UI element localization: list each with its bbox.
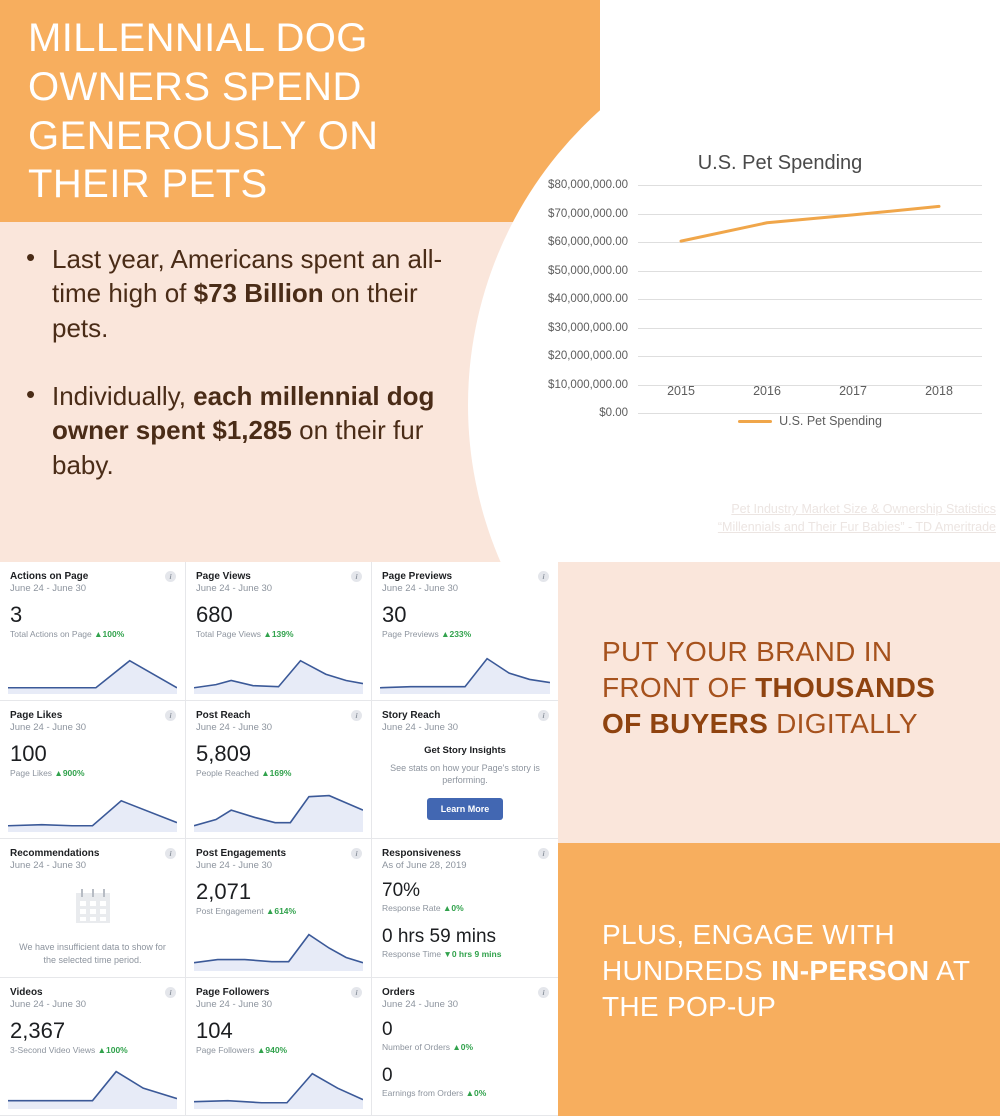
insight-card-range: June 24 - June 30 xyxy=(382,583,548,594)
info-icon[interactable]: i xyxy=(538,571,549,582)
chart-y-tick: $20,000,000.00 xyxy=(548,350,628,362)
insight-sparkline xyxy=(194,642,363,694)
insight-card-title: Videos xyxy=(10,987,175,998)
chart-title: U.S. Pet Spending xyxy=(564,152,996,175)
chart-line-series xyxy=(638,185,982,413)
chart-sources: Pet Industry Market Size & Ownership Sta… xyxy=(516,500,996,536)
insight-metric-value-2: 0 xyxy=(382,1066,548,1085)
insight-card[interactable]: Page FollowersJune 24 - June 30i104Page … xyxy=(186,978,372,1116)
insight-card-title: Page Views xyxy=(196,571,361,582)
legend-label: U.S. Pet Spending xyxy=(779,414,882,428)
insight-delta: ▲100% xyxy=(98,1045,128,1055)
chart-y-axis: $80,000,000.00$70,000,000.00$60,000,000.… xyxy=(516,185,634,413)
insight-card[interactable]: Page LikesJune 24 - June 30i100Page Like… xyxy=(0,701,186,840)
info-icon[interactable]: i xyxy=(538,987,549,998)
chart-y-tick: $70,000,000.00 xyxy=(548,208,628,220)
insight-card[interactable]: Post ReachJune 24 - June 30i5,809People … xyxy=(186,701,372,840)
insight-delta: ▲139% xyxy=(263,629,293,639)
insight-card[interactable]: Page ViewsJune 24 - June 30i680Total Pag… xyxy=(186,562,372,701)
insight-card-title: Story Reach xyxy=(382,710,548,721)
list-item: Last year, Americans spent an all-time h… xyxy=(20,242,470,345)
chart-y-tick: $0.00 xyxy=(599,407,628,419)
chart-y-tick: $30,000,000.00 xyxy=(548,322,628,334)
info-icon[interactable]: i xyxy=(165,848,176,859)
insight-sparkline xyxy=(380,642,550,694)
insight-card-title: Recommendations xyxy=(10,848,175,859)
insight-empty-text: We have insufficient data to show for th… xyxy=(10,941,175,966)
chart-plot-area xyxy=(638,185,982,413)
insight-metric-label: Total Actions on Page ▲100% xyxy=(10,629,175,639)
insight-card-range: June 24 - June 30 xyxy=(382,722,548,733)
info-icon[interactable]: i xyxy=(351,571,362,582)
legend-swatch-icon xyxy=(738,420,772,423)
info-icon[interactable]: i xyxy=(165,710,176,721)
info-icon[interactable]: i xyxy=(351,710,362,721)
insight-card-range: June 24 - June 30 xyxy=(10,583,175,594)
chart-legend: U.S. Pet Spending xyxy=(638,414,982,428)
insight-metric-label: Number of Orders ▲0% xyxy=(382,1042,548,1052)
info-icon[interactable]: i xyxy=(538,710,549,721)
hero-bullet-list: Last year, Americans spent an all-time h… xyxy=(20,242,470,516)
insight-card-range: June 24 - June 30 xyxy=(382,999,548,1010)
insight-delta: ▲940% xyxy=(257,1045,287,1055)
insight-metric-label: Page Previews ▲233% xyxy=(382,629,548,639)
chart-y-tick: $10,000,000.00 xyxy=(548,379,628,391)
popup-text-bold: IN-PERSON xyxy=(771,955,929,986)
insight-metric-label: Response Rate ▲0% xyxy=(382,903,548,913)
insight-metric-label: 3-Second Video Views ▲100% xyxy=(10,1045,175,1055)
insight-card-range: June 24 - June 30 xyxy=(196,583,361,594)
insight-card[interactable]: Post EngagementsJune 24 - June 30i2,071P… xyxy=(186,839,372,978)
insight-card[interactable]: RecommendationsJune 24 - June 30iWe have… xyxy=(0,839,186,978)
chart-x-tick: 2016 xyxy=(753,384,781,398)
insight-card[interactable]: Story ReachJune 24 - June 30iGet Story I… xyxy=(372,701,558,840)
insight-card-title: Actions on Page xyxy=(10,571,175,582)
insight-metric-label: Total Page Views ▲139% xyxy=(196,629,361,639)
insight-card[interactable]: Actions on PageJune 24 - June 30i3Total … xyxy=(0,562,186,701)
insight-metric-value: 2,367 xyxy=(10,1020,175,1042)
insight-sparkline xyxy=(194,780,363,832)
page-title: MILLENNIAL DOG OWNERS SPEND GENEROUSLY O… xyxy=(28,14,468,209)
chart-y-tick: $80,000,000.00 xyxy=(548,179,628,191)
facebook-insights-grid: Actions on PageJune 24 - June 30i3Total … xyxy=(0,562,558,1116)
insight-sparkline xyxy=(194,1057,363,1109)
insight-delta-2: ▲0% xyxy=(466,1088,487,1098)
insight-metric-value: 104 xyxy=(196,1020,361,1042)
chart-x-axis: 2015201620172018 xyxy=(638,384,982,406)
insight-sparkline xyxy=(8,1057,177,1109)
insight-metric-value: 2,071 xyxy=(196,881,361,903)
story-promo-text: See stats on how your Page's story is pe… xyxy=(382,762,548,786)
bullet-text-pre: Individually, xyxy=(52,381,193,411)
insight-sparkline xyxy=(8,642,177,694)
insight-card-title: Page Likes xyxy=(10,710,175,721)
list-item: Individually, each millennial dog owner … xyxy=(20,379,470,482)
popup-panel-heading: PLUS, ENGAGE WITH HUNDREDS IN-PERSON AT … xyxy=(602,917,982,1024)
chart-y-tick: $50,000,000.00 xyxy=(548,265,628,277)
insight-sparkline xyxy=(194,919,363,971)
insight-card-range: As of June 28, 2019 xyxy=(382,860,548,871)
insight-card-title: Responsiveness xyxy=(382,848,548,859)
insight-card[interactable]: Page PreviewsJune 24 - June 30i30Page Pr… xyxy=(372,562,558,701)
insight-card[interactable]: ResponsivenessAs of June 28, 2019i70%Res… xyxy=(372,839,558,978)
insight-card-range: June 24 - June 30 xyxy=(196,860,361,871)
insight-card-title: Orders xyxy=(382,987,548,998)
insight-delta: ▲100% xyxy=(94,629,124,639)
calendar-icon xyxy=(72,887,114,927)
insight-card-title: Post Reach xyxy=(196,710,361,721)
insight-sparkline xyxy=(8,780,177,832)
insight-card-range: June 24 - June 30 xyxy=(196,999,361,1010)
brand-panel: PUT YOUR BRAND IN FRONT OF THOUSANDS OF … xyxy=(558,562,1000,843)
insight-card-title: Page Followers xyxy=(196,987,361,998)
insight-metric-value: 0 xyxy=(382,1020,548,1039)
insight-delta: ▲0% xyxy=(452,1042,473,1052)
insight-card[interactable]: VideosJune 24 - June 30i2,3673-Second Vi… xyxy=(0,978,186,1116)
insight-card-range: June 24 - June 30 xyxy=(10,999,175,1010)
chart-x-tick: 2018 xyxy=(925,384,953,398)
info-icon[interactable]: i xyxy=(538,848,549,859)
info-icon[interactable]: i xyxy=(351,848,362,859)
insight-metric-value: 100 xyxy=(10,743,175,765)
source-link-2[interactable]: “Millennials and Their Fur Babies” - TD … xyxy=(516,518,996,536)
info-icon[interactable]: i xyxy=(351,987,362,998)
insight-metric-value: 30 xyxy=(382,604,548,626)
hero-section: MILLENNIAL DOG OWNERS SPEND GENEROUSLY O… xyxy=(0,0,1000,562)
insight-card-range: June 24 - June 30 xyxy=(10,860,175,871)
story-promo-title: Get Story Insights xyxy=(382,745,548,756)
insight-metric-label-2: Earnings from Orders ▲0% xyxy=(382,1088,548,1098)
insight-card-range: June 24 - June 30 xyxy=(10,722,175,733)
pet-spending-chart: U.S. Pet Spending $80,000,000.00$70,000,… xyxy=(516,152,996,482)
insight-metric-label: People Reached ▲169% xyxy=(196,768,361,778)
insight-metric-label: Page Likes ▲900% xyxy=(10,768,175,778)
insight-card-title: Post Engagements xyxy=(196,848,361,859)
info-icon[interactable]: i xyxy=(165,987,176,998)
insight-delta: ▲614% xyxy=(266,906,296,916)
insight-metric-value: 70% xyxy=(382,881,548,900)
insight-metric-label: Page Followers ▲940% xyxy=(196,1045,361,1055)
popup-panel: PLUS, ENGAGE WITH HUNDREDS IN-PERSON AT … xyxy=(558,843,1000,1116)
info-icon[interactable]: i xyxy=(165,571,176,582)
insight-card[interactable]: OrdersJune 24 - June 30i0Number of Order… xyxy=(372,978,558,1116)
insight-delta: ▲233% xyxy=(441,629,471,639)
insight-metric-value: 680 xyxy=(196,604,361,626)
insight-card-title: Page Previews xyxy=(382,571,548,582)
insight-metric-value: 5,809 xyxy=(196,743,361,765)
insight-metric-label-2: Response Time ▼0 hrs 9 mins xyxy=(382,949,548,959)
insight-card-range: June 24 - June 30 xyxy=(196,722,361,733)
chart-x-tick: 2017 xyxy=(839,384,867,398)
insight-delta: ▲0% xyxy=(443,903,464,913)
insight-delta: ▲900% xyxy=(54,768,84,778)
bullet-text-bold: $73 Billion xyxy=(194,278,324,308)
learn-more-button[interactable]: Learn More xyxy=(427,798,504,820)
chart-x-tick: 2015 xyxy=(667,384,695,398)
brand-panel-heading: PUT YOUR BRAND IN FRONT OF THOUSANDS OF … xyxy=(602,634,982,741)
source-link-1[interactable]: Pet Industry Market Size & Ownership Sta… xyxy=(516,500,996,518)
brand-text-post: DIGITALLY xyxy=(768,708,918,739)
insight-delta: ▲169% xyxy=(261,768,291,778)
insight-metric-label: Post Engagement ▲614% xyxy=(196,906,361,916)
insight-metric-value: 3 xyxy=(10,604,175,626)
chart-y-tick: $40,000,000.00 xyxy=(548,293,628,305)
chart-y-tick: $60,000,000.00 xyxy=(548,236,628,248)
insight-metric-value-2: 0 hrs 59 mins xyxy=(382,927,548,946)
insight-delta-2: ▼0 hrs 9 mins xyxy=(443,949,501,959)
